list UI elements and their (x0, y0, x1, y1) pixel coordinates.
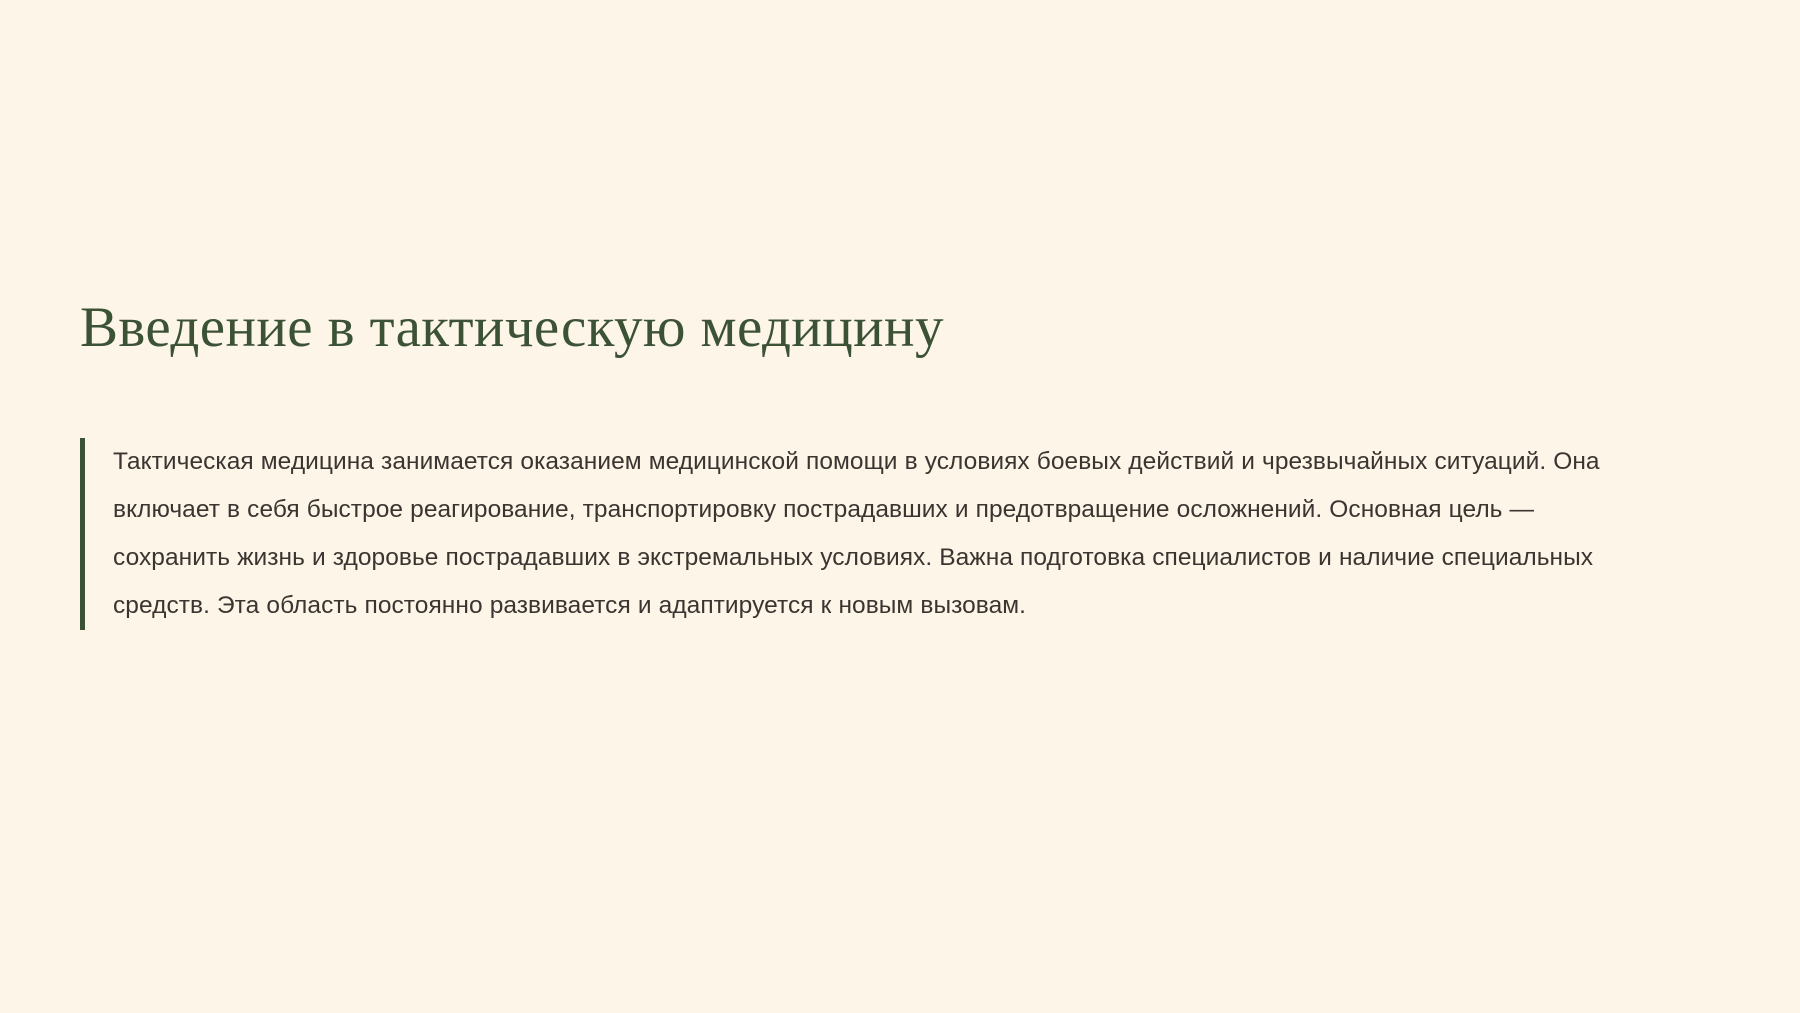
slide-content-area: Введение в тактическую медицину Тактичес… (80, 0, 1740, 1013)
quote-block: Тактическая медицина занимается оказание… (80, 438, 1610, 630)
page-title: Введение в тактическую медицину (80, 296, 944, 360)
body-text-container: Тактическая медицина занимается оказание… (85, 438, 1610, 630)
body-paragraph: Тактическая медицина занимается оказание… (113, 438, 1610, 630)
slide-canvas: Введение в тактическую медицину Тактичес… (0, 0, 1800, 1013)
